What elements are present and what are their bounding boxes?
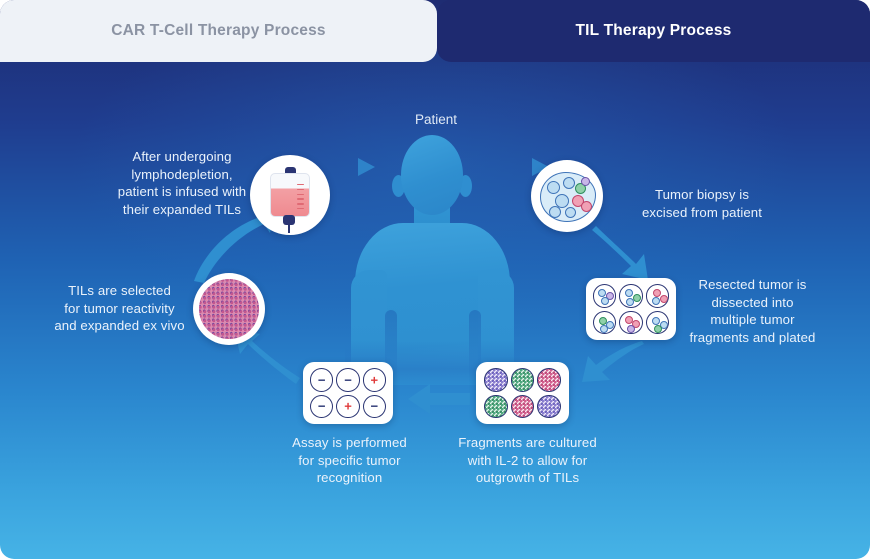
tumor-cluster-icon bbox=[540, 172, 596, 222]
well bbox=[511, 395, 535, 419]
six-well-plate-fragments-icon bbox=[593, 284, 669, 334]
caption-line: dissected into bbox=[665, 294, 840, 312]
tab-bar: CAR T-Cell Therapy Process TIL Therapy P… bbox=[0, 0, 870, 62]
six-well-plate-colonies-icon bbox=[484, 368, 561, 418]
assay-sign: − bbox=[318, 373, 326, 386]
tab-car-t-cell-therapy-process[interactable]: CAR T-Cell Therapy Process bbox=[0, 0, 437, 62]
well bbox=[537, 395, 561, 419]
caption-line: their expanded TILs bbox=[92, 201, 272, 219]
well bbox=[511, 368, 535, 392]
caption-line: lymphodepletion, bbox=[92, 166, 272, 184]
bag-iv-line bbox=[288, 217, 290, 233]
well-assay: − bbox=[310, 395, 333, 419]
well-assay: + bbox=[336, 395, 359, 419]
patient-head bbox=[401, 135, 463, 215]
well bbox=[484, 368, 508, 392]
step-icon-til-cell-mass[interactable] bbox=[193, 273, 265, 345]
til-therapy-infographic: CAR T-Cell Therapy Process TIL Therapy P… bbox=[0, 0, 870, 559]
step-icon-tumor-biopsy[interactable] bbox=[531, 160, 603, 232]
well bbox=[646, 311, 669, 335]
well-assay: − bbox=[336, 368, 359, 392]
well-assay: − bbox=[363, 395, 386, 419]
caption-dissect: Resected tumor is dissected into multipl… bbox=[665, 276, 840, 346]
caption-line: and expanded ex vivo bbox=[32, 317, 207, 335]
caption-line: outgrowth of TILs bbox=[435, 469, 620, 487]
patient-label: Patient bbox=[388, 112, 484, 127]
six-well-plate-assay-icon: − − + − + − bbox=[310, 368, 386, 418]
caption-line: excised from patient bbox=[612, 204, 792, 222]
caption-line: with IL-2 to allow for bbox=[435, 452, 620, 470]
bag-body bbox=[270, 173, 310, 217]
caption-line: fragments and plated bbox=[665, 329, 840, 347]
assay-sign: − bbox=[318, 400, 326, 413]
caption-assay: Assay is performed for specific tumor re… bbox=[262, 434, 437, 487]
assay-sign: − bbox=[371, 400, 379, 413]
well bbox=[593, 284, 616, 308]
well bbox=[484, 395, 508, 419]
caption-line: for tumor reactivity bbox=[32, 300, 207, 318]
arrow-culture-to-assay bbox=[404, 384, 472, 416]
caption-line: TILs are selected bbox=[32, 282, 207, 300]
well bbox=[619, 284, 642, 308]
caption-line: Tumor biopsy is bbox=[612, 186, 792, 204]
caption-biopsy: Tumor biopsy is excised from patient bbox=[612, 186, 792, 221]
caption-line: After undergoing bbox=[92, 148, 272, 166]
assay-sign: + bbox=[344, 400, 352, 413]
caption-line: recognition bbox=[262, 469, 437, 487]
step-icon-culture-plate[interactable] bbox=[476, 362, 569, 424]
well-assay: − bbox=[310, 368, 333, 392]
caption-line: Fragments are cultured bbox=[435, 434, 620, 452]
iv-blood-bag-icon bbox=[268, 167, 312, 231]
til-cell-mass-icon bbox=[199, 279, 259, 339]
tab-til-therapy-process[interactable]: TIL Therapy Process bbox=[437, 0, 870, 62]
caption-line: Resected tumor is bbox=[665, 276, 840, 294]
assay-sign: + bbox=[371, 373, 379, 386]
step-icon-fragment-plate[interactable] bbox=[586, 278, 676, 340]
tab-label: TIL Therapy Process bbox=[576, 22, 732, 40]
caption-infusion: After undergoing lymphodepletion, patien… bbox=[92, 148, 272, 218]
well bbox=[537, 368, 561, 392]
arrow-biopsy-to-dissect bbox=[590, 222, 660, 286]
tab-label: CAR T-Cell Therapy Process bbox=[111, 22, 326, 40]
caption-line: multiple tumor bbox=[665, 311, 840, 329]
assay-sign: − bbox=[344, 373, 352, 386]
caption-line: Assay is performed bbox=[262, 434, 437, 452]
caption-line: for specific tumor bbox=[262, 452, 437, 470]
caption-culture: Fragments are cultured with IL-2 to allo… bbox=[435, 434, 620, 487]
step-icon-iv-blood-bag[interactable] bbox=[250, 155, 330, 235]
well bbox=[593, 311, 616, 335]
well bbox=[619, 311, 642, 335]
well bbox=[646, 284, 669, 308]
well-assay: + bbox=[363, 368, 386, 392]
caption-line: patient is infused with bbox=[92, 183, 272, 201]
bag-graduation-marks bbox=[297, 184, 305, 214]
arrow-dissect-to-culture bbox=[578, 340, 648, 386]
step-icon-assay-plate[interactable]: − − + − + − bbox=[303, 362, 393, 424]
caption-expand: TILs are selected for tumor reactivity a… bbox=[32, 282, 207, 335]
